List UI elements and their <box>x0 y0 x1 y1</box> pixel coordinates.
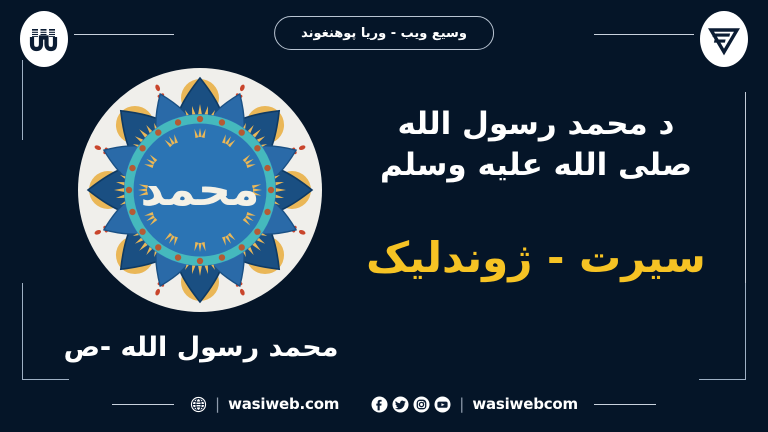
poster-canvas: وسیع ویب - وریا پوهنغوند <box>0 0 768 432</box>
brand-pill[interactable]: وسیع ویب - وریا پوهنغوند <box>274 16 494 50</box>
artwork-caption: محمد رسول الله -ص <box>36 330 366 365</box>
corner-bracket-bottom-right <box>699 283 746 380</box>
accent-rule-left <box>22 60 23 140</box>
w-monogram-icon <box>27 22 61 56</box>
youtube-icon[interactable] <box>434 396 451 413</box>
subtitle: سیرت - ژوندلیک <box>340 232 732 285</box>
mandala-icon: محمد <box>72 62 328 318</box>
footer-separator-2: | <box>459 395 464 413</box>
footer-rule-right <box>594 404 656 405</box>
footer-separator-1: | <box>215 395 220 413</box>
footer-rule-left <box>112 404 174 405</box>
social-group[interactable]: | wasiwebcom <box>355 395 594 413</box>
footer-bar: | wasiweb.com <box>0 390 768 418</box>
f-monogram-logo[interactable] <box>700 11 748 67</box>
brand-pill-label: وسیع ویب - وریا پوهنغوند <box>301 27 467 40</box>
twitter-icon[interactable] <box>392 396 409 413</box>
website-group[interactable]: | wasiweb.com <box>174 395 355 413</box>
islamic-mandala-artwork: محمد <box>72 62 328 318</box>
muhammad-calligraphy-text: محمد <box>140 162 259 216</box>
social-handle-label: wasiwebcom <box>472 395 578 413</box>
title-line-1: د محمد رسول الله <box>340 104 732 145</box>
header-bar: وسیع ویب - وریا پوهنغوند <box>0 0 768 70</box>
website-label: wasiweb.com <box>228 395 339 413</box>
social-icon-row <box>371 396 451 413</box>
header-rule-right <box>594 34 694 35</box>
globe-icon <box>190 396 207 413</box>
f-monogram-icon <box>707 22 741 56</box>
facebook-icon[interactable] <box>371 396 388 413</box>
header-rule-left <box>74 34 174 35</box>
wasiweb-w-monogram-logo[interactable] <box>20 11 68 67</box>
title-line-2: صلى الله عليه وسلم <box>340 145 732 186</box>
instagram-icon[interactable] <box>413 396 430 413</box>
main-title: د محمد رسول الله صلى الله عليه وسلم <box>340 104 732 186</box>
